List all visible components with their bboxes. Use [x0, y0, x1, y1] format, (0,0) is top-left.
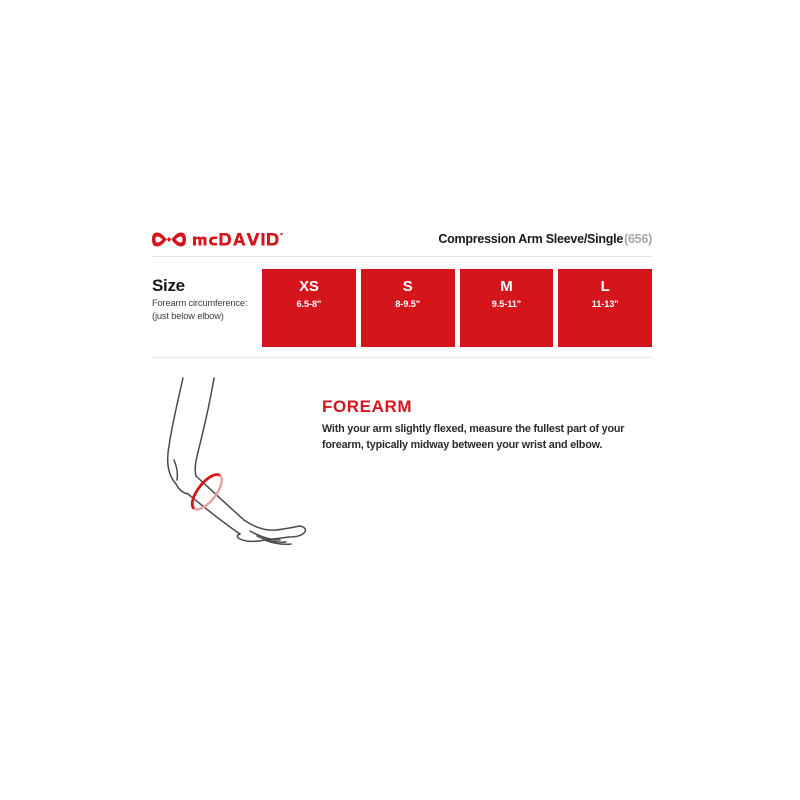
size-legend-subtext: Forearm circumference: (just below elbow… — [152, 297, 262, 324]
size-cell-s[interactable]: S 8-9.5" — [361, 269, 455, 347]
product-title: Compression Arm Sleeve/Single(656) — [438, 232, 652, 246]
size-cell-l[interactable]: L 11-13" — [558, 269, 652, 347]
product-code: (656) — [624, 232, 652, 246]
size-cell-xs[interactable]: XS 6.5-8" — [262, 269, 356, 347]
size-legend: Size Forearm circumference: (just below … — [152, 269, 262, 347]
brand-logo — [152, 231, 303, 248]
measure-heading: FOREARM — [322, 398, 652, 415]
size-legend-sub-line-1: Forearm circumference: — [152, 297, 262, 310]
mcdavid-chevron-icon — [152, 231, 186, 248]
size-cell-m[interactable]: M 9.5-11" — [460, 269, 554, 347]
size-cell-value: 11-13" — [592, 299, 619, 309]
size-cell-value: 8-9.5" — [395, 299, 420, 309]
measure-section: FOREARM With your arm slightly flexed, m… — [152, 358, 652, 565]
size-chart: Compression Arm Sleeve/Single(656) Size … — [152, 224, 652, 565]
measure-description: With your arm slightly flexed, measure t… — [322, 422, 652, 453]
product-title-text: Compression Arm Sleeve/Single — [438, 232, 623, 246]
size-cell-value: 6.5-8" — [297, 299, 322, 309]
size-cells: XS 6.5-8" S 8-9.5" M 9.5-11" L 11-13" — [262, 269, 652, 347]
arm-illustration — [152, 370, 322, 565]
mcdavid-wordmark-icon — [193, 233, 303, 246]
flexed-arm-with-measurement-band-icon — [152, 370, 322, 560]
size-cell-label: M — [500, 279, 512, 296]
size-cell-label: XS — [299, 279, 319, 296]
size-cell-label: L — [601, 279, 610, 296]
size-cell-label: S — [403, 279, 413, 296]
size-cell-value: 9.5-11" — [492, 299, 521, 309]
size-legend-sub-line-2: (just below elbow) — [152, 310, 262, 323]
measure-copy: FOREARM With your arm slightly flexed, m… — [322, 370, 652, 565]
size-legend-title: Size — [152, 277, 262, 295]
size-table: Size Forearm circumference: (just below … — [152, 257, 652, 358]
chart-header: Compression Arm Sleeve/Single(656) — [152, 224, 652, 257]
